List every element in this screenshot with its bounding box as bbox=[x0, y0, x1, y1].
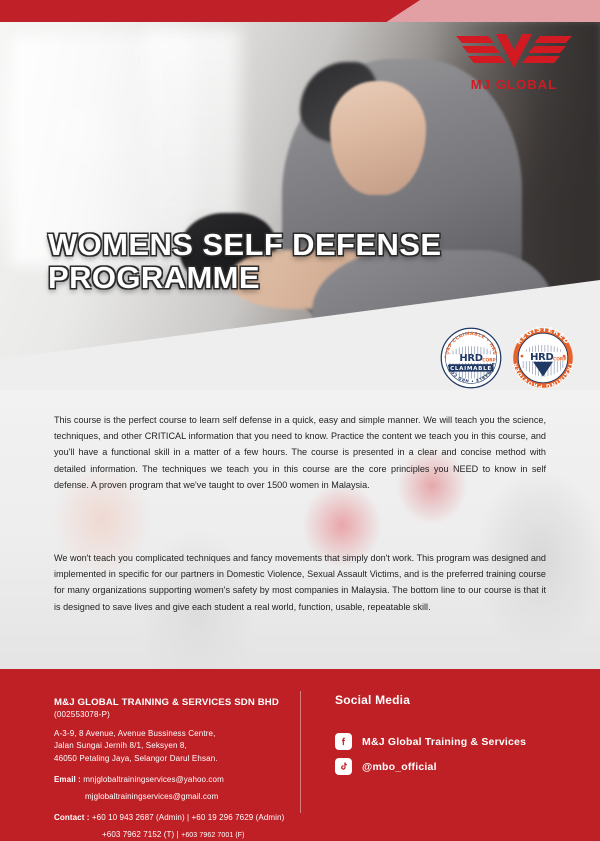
social-media-title: Social Media bbox=[335, 693, 600, 707]
contact-label: Contact : bbox=[54, 813, 90, 822]
mj-global-logo: MJ GLOBAL bbox=[450, 28, 578, 92]
svg-text:HRD: HRD bbox=[530, 352, 553, 363]
footer: M&J GLOBAL TRAINING & SERVICES SDN BHD (… bbox=[0, 669, 600, 841]
footer-address: A-3-9, 8 Avenue, Avenue Bussiness Centre… bbox=[54, 728, 290, 765]
svg-text:CLAIMABLE: CLAIMABLE bbox=[450, 366, 492, 372]
contact-line-2[interactable]: +603 7962 7152 (T) | +603 7962 7001 (F) bbox=[54, 829, 290, 841]
poster-page: WOMENS SELF DEFENSE PROGRAMME MJ GLOBAL bbox=[0, 0, 600, 841]
address-line-2: Jalan Sungai Jernih 8/1, Seksyen 8, bbox=[54, 740, 290, 752]
tiktok-icon bbox=[335, 758, 352, 775]
social-label-tiktok: @mbo_official bbox=[362, 761, 437, 773]
hrd-corp-registered-training-provider-badge: REGISTERED TRAINING PROVIDER HRD CORP bbox=[512, 327, 574, 389]
mj-global-logo-text: MJ GLOBAL bbox=[450, 77, 578, 92]
top-banner-red bbox=[0, 0, 420, 22]
mj-global-wing-logo-icon bbox=[454, 28, 574, 76]
footer-company-name: M&J GLOBAL TRAINING & SERVICES SDN BHD bbox=[54, 697, 290, 709]
paragraph-2: We won't teach you complicated technique… bbox=[54, 550, 546, 615]
social-item-tiktok[interactable]: @mbo_official bbox=[335, 758, 600, 775]
svg-text:CORP: CORP bbox=[553, 356, 566, 362]
footer-social-section: Social Media M&J Global Training & Servi… bbox=[301, 669, 600, 841]
svg-text:CORP: CORP bbox=[482, 358, 495, 364]
email-primary[interactable]: mnjglobaltrainingservices@yahoo.com bbox=[83, 775, 224, 784]
contact-fax: +603 7962 7001 (F) bbox=[181, 832, 244, 839]
content-section: This course is the perfect course to lea… bbox=[0, 390, 600, 672]
social-media-list: M&J Global Training & Services @mbo_offi… bbox=[335, 733, 600, 775]
hero-window-light-secondary bbox=[144, 29, 240, 220]
facebook-icon bbox=[335, 733, 352, 750]
email-label: Email : bbox=[54, 775, 81, 784]
paragraph-1: This course is the perfect course to lea… bbox=[54, 412, 546, 493]
social-item-facebook[interactable]: M&J Global Training & Services bbox=[335, 733, 600, 750]
footer-company-info: M&J GLOBAL TRAINING & SERVICES SDN BHD (… bbox=[0, 669, 300, 841]
contact-line-1[interactable]: +60 10 943 2687 (Admin) | +60 19 296 762… bbox=[92, 813, 284, 822]
footer-registration-number: (002553078-P) bbox=[54, 710, 290, 719]
footer-email-block: Email : mnjglobaltrainingservices@yahoo.… bbox=[54, 774, 290, 803]
address-line-1: A-3-9, 8 Avenue, Avenue Bussiness Centre… bbox=[54, 728, 290, 740]
contact-tel: +603 7962 7152 (T) | bbox=[102, 830, 181, 839]
certification-badges: HRD CORP CLAIMABLE • HRD CORP CLAIMABLE … bbox=[440, 327, 574, 389]
poster-title-line-1: WOMENS SELF DEFENSE bbox=[48, 228, 441, 261]
hrd-corp-claimable-badge: HRD CORP CLAIMABLE • HRD CORP CLAIMABLE … bbox=[440, 327, 502, 389]
poster-title-line-2: PROGRAMME bbox=[48, 261, 441, 294]
svg-text:HRD: HRD bbox=[459, 353, 482, 364]
social-label-facebook: M&J Global Training & Services bbox=[362, 736, 526, 748]
email-secondary[interactable]: mjglobaltrainingservices@gmail.com bbox=[54, 791, 290, 803]
hero-figure-face bbox=[330, 81, 426, 195]
poster-title: WOMENS SELF DEFENSE PROGRAMME bbox=[48, 228, 441, 295]
address-line-3: 46050 Petaling Jaya, Selangor Darul Ehsa… bbox=[54, 753, 290, 765]
footer-contact-block: Contact : +60 10 943 2687 (Admin) | +60 … bbox=[54, 812, 290, 841]
